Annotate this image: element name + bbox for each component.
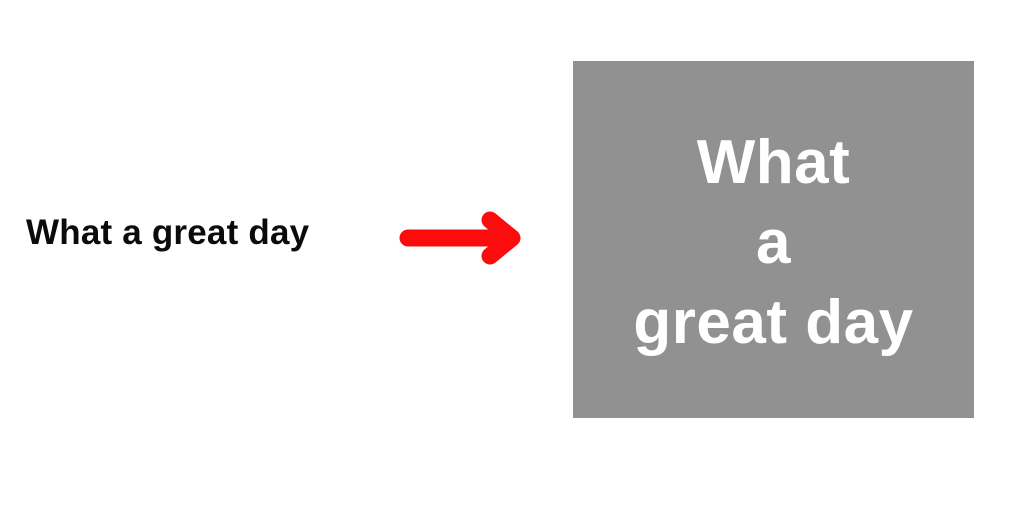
result-line: a	[756, 203, 791, 283]
result-text-block: What a great day	[633, 123, 913, 363]
source-text-label: What a great day	[26, 212, 309, 254]
right-arrow-icon	[398, 210, 524, 266]
result-card: What a great day	[573, 61, 974, 418]
result-line: What	[697, 123, 851, 203]
result-line: great day	[633, 283, 913, 363]
illustration-canvas: What a great day What a great day	[0, 0, 1024, 512]
